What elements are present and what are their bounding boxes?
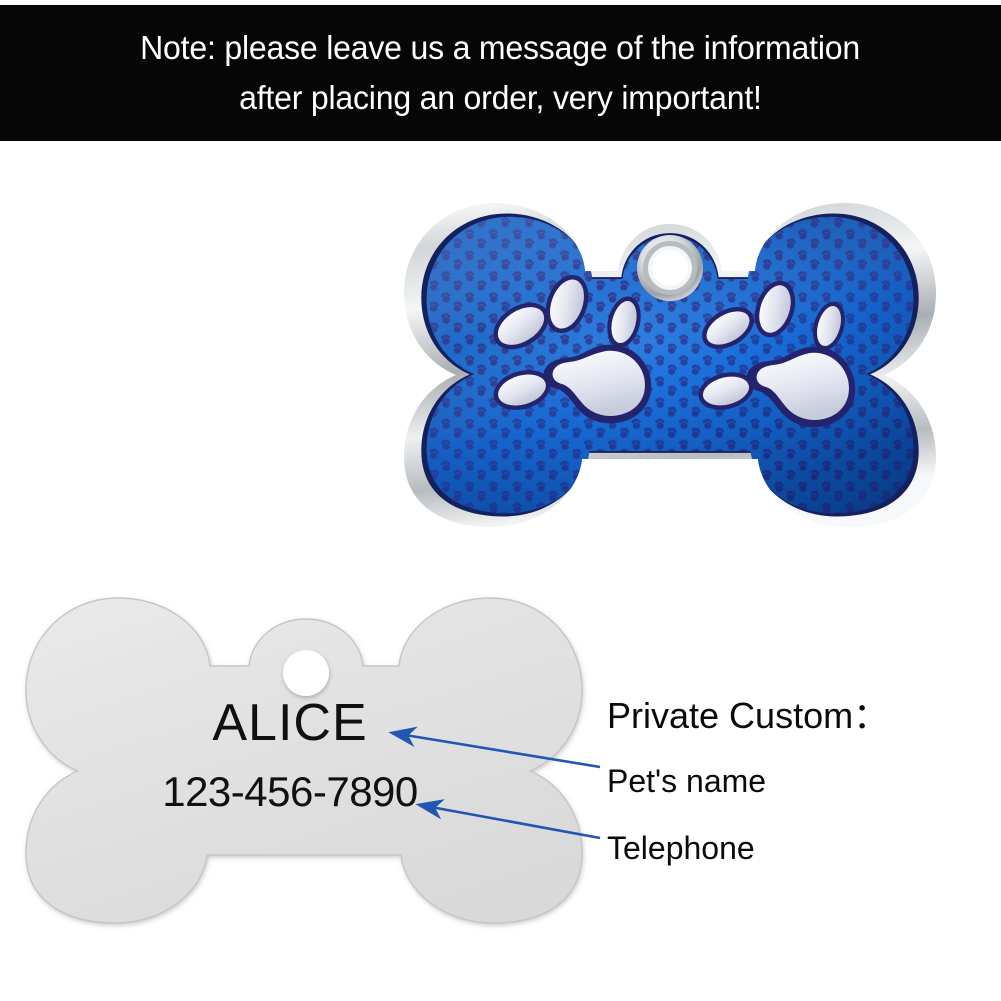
silver-tag-hang-hole [283, 650, 329, 696]
blue-bone-tag [392, 192, 948, 538]
silver-tag-body [26, 598, 582, 923]
annotation-title: Private Custom： [607, 690, 997, 742]
note-banner: Note: please leave us a message of the i… [0, 5, 1001, 141]
silver-bone-tag-graphic [14, 585, 594, 935]
blue-tag-hang-hole [637, 235, 703, 301]
annotation-list: Private Custom： Pet's name Telephone [607, 690, 997, 873]
note-banner-line-2: after placing an order, very important! [239, 73, 762, 123]
annotation-telephone: Telephone [607, 823, 997, 873]
note-banner-line-1: Note: please leave us a message of the i… [141, 23, 861, 73]
silver-bone-tag [14, 585, 594, 935]
blue-bone-tag-graphic [392, 192, 948, 538]
annotation-pet-name: Pet's name [607, 756, 997, 806]
